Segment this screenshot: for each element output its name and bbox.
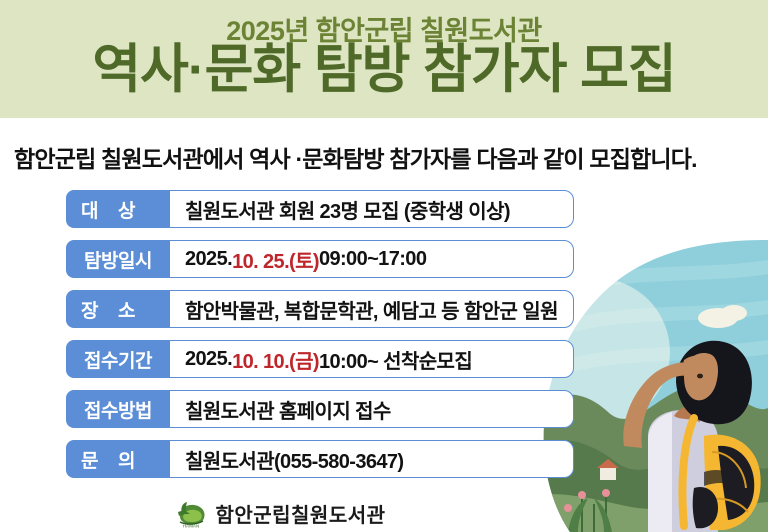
row-value-date: 2025. 10. 25.(토) 09:00~17:00 [162,240,574,278]
footer-organization-name: 함안군립칠원도서관 [215,499,385,528]
table-row: 장소 함안박물관, 복합문학관, 예담고 등 함안군 일원 [66,290,574,328]
row-label-target-text: 대상 [81,196,155,223]
row-label-application-method: 접수방법 [66,390,170,428]
row-label-inquiry-text: 문의 [81,446,155,473]
row-label-place: 장소 [66,290,170,328]
row-label-place-text: 장소 [81,296,155,323]
row-value-application-method: 칠원도서관 홈페이지 접수 [162,390,574,428]
intro-sentence: 함안군립 칠원도서관에서 역사 ·문화탐방 참가자를 다음과 같이 모집합니다. [14,140,758,174]
row-value-target: 칠원도서관 회원 23명 모집 (중학생 이상) [162,190,574,228]
table-row: 대상 칠원도서관 회원 23명 모집 (중학생 이상) [66,190,574,228]
table-row: 문의 칠원도서관(055-580-3647) [66,440,574,478]
library-leaf-logo-icon: HAMAN [174,500,208,528]
table-row: 접수기간 2025. 10. 10.(금) 10:00~ 선착순모집 [66,340,574,378]
row-value-place: 함안박물관, 복합문학관, 예담고 등 함안군 일원 [162,290,574,328]
row-label-date: 탐방일시 [66,240,170,278]
row-label-inquiry: 문의 [66,440,170,478]
header-banner: 2025년 함안군립 칠원도서관 역사·문화 탐방 참가자 모집 [0,0,768,118]
row-value-application-period: 2025. 10. 10.(금) 10:00~ 선착순모집 [162,340,574,378]
row-value-inquiry: 칠원도서관(055-580-3647) [162,440,574,478]
row-label-application-period: 접수기간 [66,340,170,378]
page-title: 역사·문화 탐방 참가자 모집 [0,42,768,98]
poster-canvas: 2025년 함안군립 칠원도서관 역사·문화 탐방 참가자 모집 함안군립 칠원… [0,0,768,532]
row-label-target: 대상 [66,190,170,228]
table-row: 탐방일시 2025. 10. 25.(토) 09:00~17:00 [66,240,574,278]
table-row: 접수방법 칠원도서관 홈페이지 접수 [66,390,574,428]
info-table: 대상 칠원도서관 회원 23명 모집 (중학생 이상) 탐방일시 2025. 1… [66,190,574,490]
svg-text:HAMAN: HAMAN [183,523,200,528]
footer-logo-block: HAMAN 함안군립칠원도서관 [0,499,560,528]
